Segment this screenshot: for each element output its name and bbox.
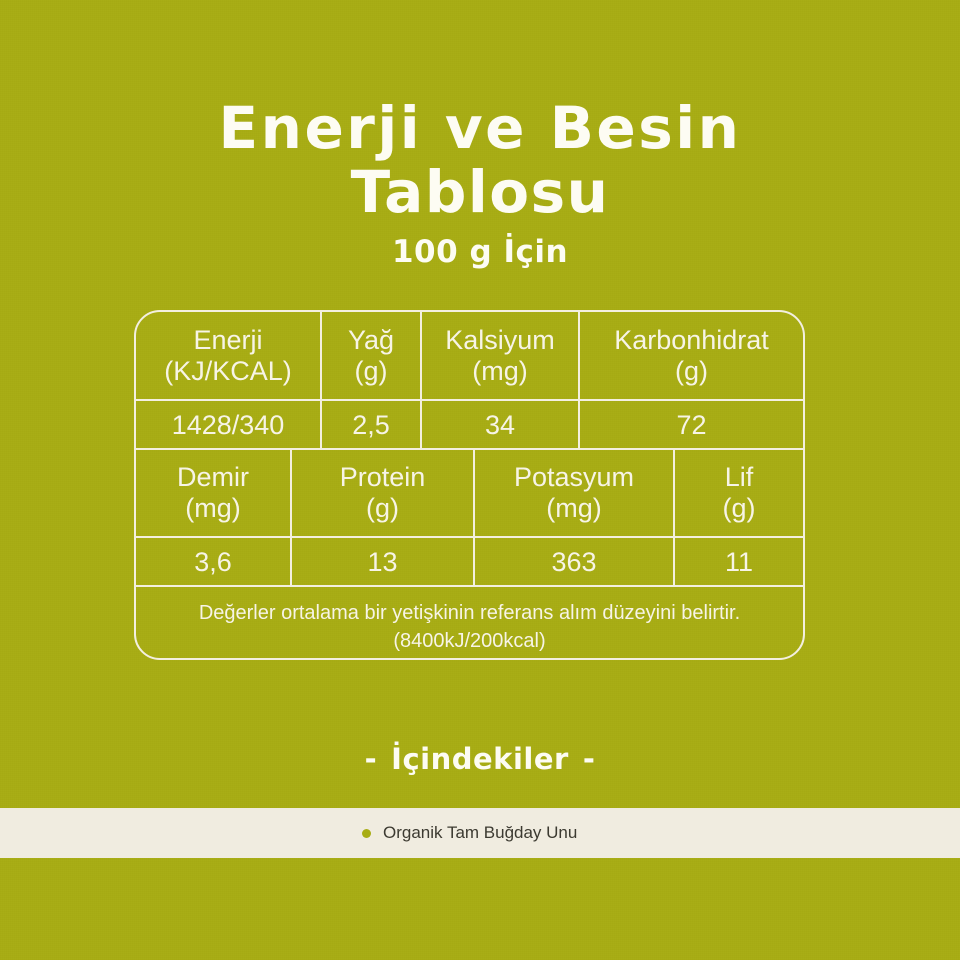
header-cell-demir-name: Demir bbox=[177, 462, 249, 493]
header-cell-kalsiyum: Kalsiyum (mg) bbox=[422, 312, 580, 399]
ingredients-heading-label: İçindekiler bbox=[391, 742, 569, 776]
header-cell-lif-name: Lif bbox=[725, 462, 754, 493]
nutrition-table: Enerji (KJ/KCAL) Yağ (g) Kalsiyum (mg) K… bbox=[134, 310, 805, 660]
value-cell-protein: 13 bbox=[292, 538, 475, 585]
table-header-row-1: Enerji (KJ/KCAL) Yağ (g) Kalsiyum (mg) K… bbox=[136, 312, 803, 399]
header-cell-protein: Protein (g) bbox=[292, 450, 475, 536]
header-cell-potasyum-unit: (mg) bbox=[546, 493, 602, 524]
header-cell-karbonhidrat-name: Karbonhidrat bbox=[614, 325, 769, 356]
ingredient-label: Organik Tam Buğday Unu bbox=[383, 823, 577, 843]
ingredients-heading-dash-left: - bbox=[365, 742, 378, 776]
header-cell-lif: Lif (g) bbox=[675, 450, 803, 536]
header-cell-demir: Demir (mg) bbox=[136, 450, 292, 536]
header-cell-potasyum: Potasyum (mg) bbox=[475, 450, 675, 536]
header-cell-karbonhidrat: Karbonhidrat (g) bbox=[580, 312, 803, 399]
bullet-icon bbox=[362, 829, 371, 838]
header-cell-potasyum-name: Potasyum bbox=[514, 462, 634, 493]
ingredients-strip: Organik Tam Buğday Unu bbox=[0, 808, 960, 858]
header-cell-enerji-name: Enerji bbox=[193, 325, 262, 356]
header-cell-kalsiyum-unit: (mg) bbox=[472, 356, 528, 387]
value-cell-karbonhidrat: 72 bbox=[580, 401, 803, 448]
header-cell-karbonhidrat-unit: (g) bbox=[675, 356, 708, 387]
header-cell-kalsiyum-name: Kalsiyum bbox=[445, 325, 555, 356]
header-cell-enerji: Enerji (KJ/KCAL) bbox=[136, 312, 322, 399]
table-footnote-line-2: (8400kJ/200kcal) bbox=[393, 627, 545, 655]
ingredients-heading-dash-right: - bbox=[583, 742, 596, 776]
header-cell-yag-name: Yağ bbox=[348, 325, 394, 356]
header-cell-demir-unit: (mg) bbox=[185, 493, 241, 524]
page-subtitle: 100 g İçin bbox=[0, 234, 960, 270]
table-value-row-1: 1428/340 2,5 34 72 bbox=[136, 401, 803, 448]
header-cell-lif-unit: (g) bbox=[723, 493, 756, 524]
header-cell-yag-unit: (g) bbox=[355, 356, 388, 387]
page-title-line-2: Tablosu bbox=[0, 160, 960, 224]
table-footnote: Değerler ortalama bir yetişkinin referan… bbox=[136, 587, 803, 660]
header-cell-yag: Yağ (g) bbox=[322, 312, 422, 399]
nutrition-label-page: Enerji ve Besin Tablosu 100 g İçin Enerj… bbox=[0, 0, 960, 960]
header-cell-protein-name: Protein bbox=[340, 462, 426, 493]
page-title-line-1: Enerji ve Besin bbox=[0, 96, 960, 160]
value-cell-demir: 3,6 bbox=[136, 538, 292, 585]
header-cell-enerji-unit: (KJ/KCAL) bbox=[164, 356, 292, 387]
table-value-row-2: 3,6 13 363 11 bbox=[136, 538, 803, 585]
ingredient-list-item: Organik Tam Buğday Unu bbox=[362, 823, 577, 843]
page-title-block: Enerji ve Besin Tablosu 100 g İçin bbox=[0, 96, 960, 270]
table-footnote-line-1: Değerler ortalama bir yetişkinin referan… bbox=[199, 599, 740, 627]
value-cell-lif: 11 bbox=[675, 538, 803, 585]
ingredients-heading: -İçindekiler- bbox=[0, 742, 960, 776]
value-cell-yag: 2,5 bbox=[322, 401, 422, 448]
value-cell-potasyum: 363 bbox=[475, 538, 675, 585]
value-cell-enerji: 1428/340 bbox=[136, 401, 322, 448]
table-header-row-2: Demir (mg) Protein (g) Potasyum (mg) Lif… bbox=[136, 450, 803, 536]
header-cell-protein-unit: (g) bbox=[366, 493, 399, 524]
value-cell-kalsiyum: 34 bbox=[422, 401, 580, 448]
